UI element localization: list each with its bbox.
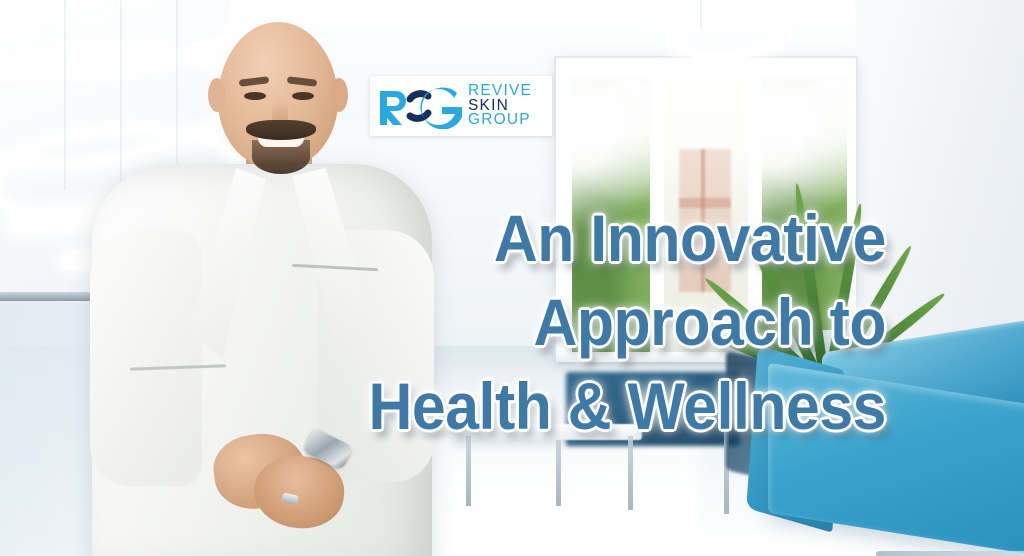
logo-line-group: GROUP <box>468 113 532 128</box>
ear-right <box>330 78 348 112</box>
headline-line-2: Approach to <box>187 280 886 364</box>
headline-line-3: Health & Wellness <box>187 364 886 448</box>
light-cord <box>700 0 702 30</box>
ear-left <box>208 78 226 112</box>
eye-right <box>292 92 314 100</box>
eye-left <box>244 92 266 100</box>
logo-wordmark: REVIVE SKIN GROUP <box>468 84 532 129</box>
rsg-monogram-icon <box>376 83 462 129</box>
headline: An Innovative Approach to Health & Welln… <box>126 196 886 448</box>
light-cord <box>64 0 66 190</box>
hero-banner: REVIVE SKIN GROUP An Innovative Approach… <box>0 0 1024 556</box>
bench-base <box>876 551 1024 556</box>
table-leg <box>556 440 561 506</box>
headline-line-1: An Innovative <box>187 196 886 280</box>
mustache <box>246 120 316 140</box>
revive-skin-group-logo[interactable]: REVIVE SKIN GROUP <box>370 76 552 136</box>
